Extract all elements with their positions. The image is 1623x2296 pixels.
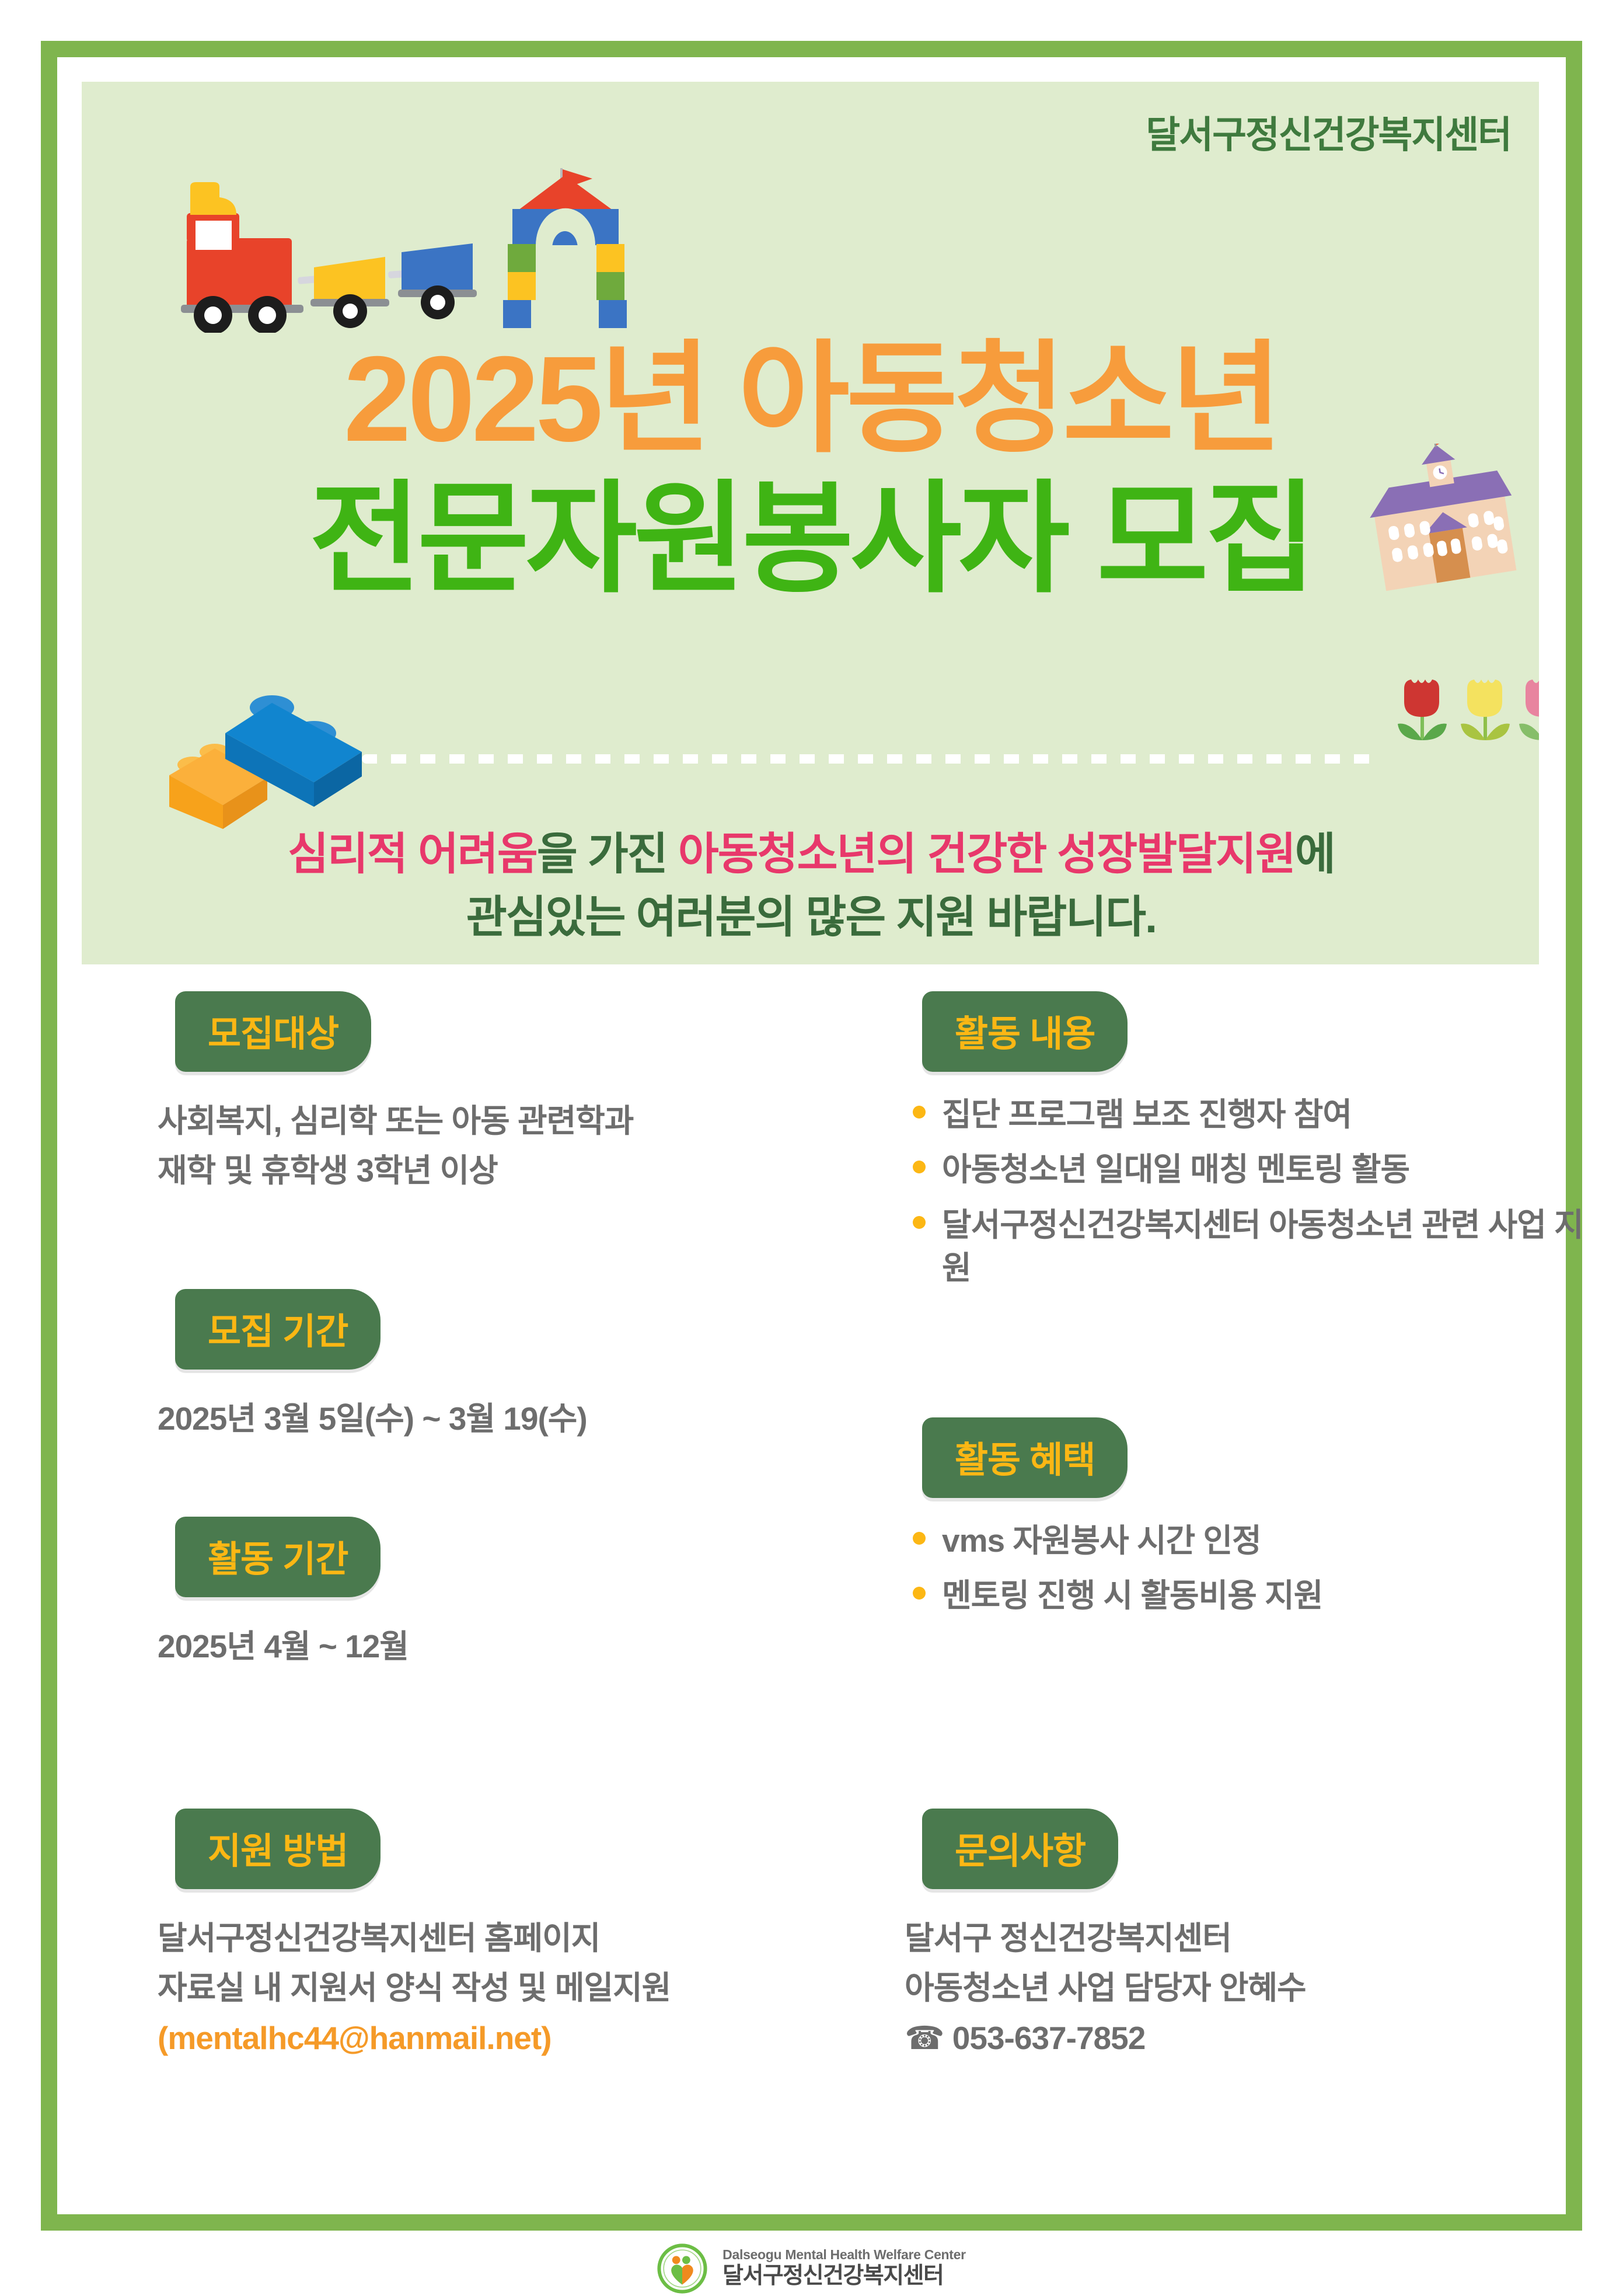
poster-green-border: 달서구정신건강복지센터 2025년 아동청소년 전문자원봉사자 모집 심리적 어… [41,41,1582,2231]
footer-logo-korean: 달서구정신건강복지센터 [723,2263,966,2290]
badge-activity-content: 활동 내용 [922,991,1128,1072]
inquiry-line-2: 아동청소년 사업 담당자 안혜수 [905,1963,1587,2013]
badge-wrap-activity-period: 활동 기간 [152,1517,840,1597]
badge-activity-period: 활동 기간 [175,1517,381,1597]
dashed-divider [362,754,1377,764]
section-recruit-period: 모집 기간 2025년 3월 5일(수) ~ 3월 19(수) [152,1289,840,1444]
section-apply-method: 지원 방법 달서구정신건강복지센터 홈페이지 자료실 내 지원서 양식 작성 및… [152,1809,840,2063]
section-inquiry: 문의사항 달서구 정신건강복지센터 아동청소년 사업 담당자 안혜수 ☎ 053… [899,1809,1587,2063]
footer-logo-block: Dalseogu Mental Health Welfare Center 달서… [0,2241,1623,2296]
info-sections-area: 모집대상 사회복지, 심리학 또는 아동 관련학과 재학 및 휴학생 3학년 이… [82,991,1539,2211]
body-activity-period: 2025년 4월 ~ 12월 [152,1622,840,1671]
body-apply-method: 달서구정신건강복지센터 홈페이지 자료실 내 지원서 양식 작성 및 메일지원 … [152,1914,840,2063]
poster-title-line2: 전문자원봉사자 모집 [169,479,1453,600]
section-activity-period: 활동 기간 2025년 4월 ~ 12월 [152,1517,840,1671]
subtitle-line-1: 심리적 어려움을 가진 아동청소년의 건강한 성장발달지원에 [152,823,1471,886]
organization-name: 달서구정신건강복지센터 [1146,105,1511,159]
footer-logo-english: Dalseogu Mental Health Welfare Center [723,2247,966,2263]
badge-wrap-inquiry: 문의사항 [899,1809,1587,1889]
list-item: vms 자원봉사 시간 인정 [908,1519,1587,1562]
badge-wrap-recruit-period: 모집 기간 [152,1289,840,1370]
badge-inquiry: 문의사항 [922,1809,1118,1889]
badge-wrap-apply-method: 지원 방법 [152,1809,840,1889]
recruit-target-line-1: 사회복지, 심리학 또는 아동 관련학과 [158,1096,840,1146]
hero-panel: 달서구정신건강복지센터 2025년 아동청소년 전문자원봉사자 모집 심리적 어… [82,82,1539,964]
subtitle-emphasis-1: 심리적 어려움 [288,830,537,879]
poster-white-inset: 달서구정신건강복지센터 2025년 아동청소년 전문자원봉사자 모집 심리적 어… [57,57,1566,2214]
list-item: 집단 프로그램 보조 진행자 참여 [908,1093,1587,1136]
apply-method-email[interactable]: (mentalhc44@hanmail.net) [158,2013,840,2063]
apply-method-line-1: 달서구정신건강복지센터 홈페이지 [158,1914,840,1963]
three-tulips-icon [1395,666,1539,759]
badge-recruit-period: 모집 기간 [175,1289,381,1370]
recruit-period-line-1: 2025년 3월 5일(수) ~ 3월 19(수) [158,1394,840,1444]
block-arch-icon [490,158,642,333]
apply-method-line-2: 자료실 내 지원서 양식 작성 및 메일지원 [158,1963,840,2013]
badge-apply-method: 지원 방법 [175,1809,381,1889]
section-activity-benefit: 활동 혜택 vms 자원봉사 시간 인정 멘토링 진행 시 활동비용 지원 [899,1417,1587,1629]
lego-bricks-icon [169,677,403,829]
subtitle-emphasis-2: 아동청소년의 건강한 성장발달지원 [678,830,1295,879]
subtitle-block: 심리적 어려움을 가진 아동청소년의 건강한 성장발달지원에 관심있는 여러분의… [152,823,1471,949]
list-item: 멘토링 진행 시 활동비용 지원 [908,1574,1587,1617]
badge-recruit-target: 모집대상 [175,991,371,1072]
subtitle-line-2: 관심있는 여러분의 많은 지원 바랍니다. [152,886,1471,949]
body-recruit-period: 2025년 3월 5일(수) ~ 3월 19(수) [152,1394,840,1444]
badge-activity-benefit: 활동 혜택 [922,1417,1128,1498]
recruit-target-line-2: 재학 및 휴학생 3학년 이상 [158,1146,840,1196]
center-logo-icon [657,2243,707,2294]
body-inquiry: 달서구 정신건강복지센터 아동청소년 사업 담당자 안혜수 ☎ 053-637-… [899,1914,1587,2063]
badge-wrap-recruit-target: 모집대상 [152,991,840,1072]
body-recruit-target: 사회복지, 심리학 또는 아동 관련학과 재학 및 휴학생 3학년 이상 [152,1096,840,1196]
section-recruit-target: 모집대상 사회복지, 심리학 또는 아동 관련학과 재학 및 휴학생 3학년 이… [152,991,840,1196]
activity-period-line-1: 2025년 4월 ~ 12월 [158,1622,840,1671]
list-item: 달서구정신건강복지센터 아동청소년 관련 사업 지원 [908,1203,1587,1290]
poster-title-line1: 2025년 아동청소년 [169,339,1453,460]
badge-wrap-activity-content: 활동 내용 [899,991,1587,1072]
bullets-activity-benefit: vms 자원봉사 시간 인정 멘토링 진행 시 활동비용 지원 [899,1519,1587,1618]
subtitle-plain-2: 에 [1295,830,1335,879]
footer-logo-text: Dalseogu Mental Health Welfare Center 달서… [723,2247,966,2289]
bullets-activity-content: 집단 프로그램 보조 진행자 참여 아동청소년 일대일 매칭 멘토링 활동 달서… [899,1093,1587,1290]
list-item: 아동청소년 일대일 매칭 멘토링 활동 [908,1148,1587,1191]
subtitle-plain-1: 을 가진 [537,830,678,879]
section-activity-content: 활동 내용 집단 프로그램 보조 진행자 참여 아동청소년 일대일 매칭 멘토링… [899,991,1587,1301]
badge-wrap-activity-benefit: 활동 혜택 [899,1417,1587,1498]
inquiry-line-1: 달서구 정신건강복지센터 [905,1914,1587,1963]
inquiry-phone: ☎ 053-637-7852 [905,2013,1587,2063]
